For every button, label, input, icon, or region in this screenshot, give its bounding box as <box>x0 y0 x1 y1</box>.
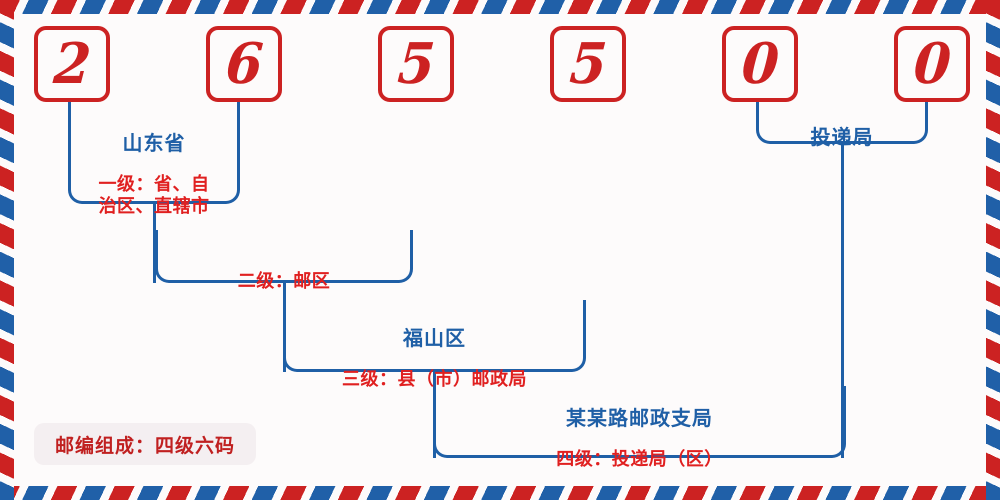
label-level-1-name: 山东省 <box>68 132 240 156</box>
label-level-1-desc: 一级：省、自 治区、直辖市 <box>68 174 240 216</box>
postcode-composition-text: 邮编组成：四级六码 <box>55 431 235 458</box>
label-level-3-name: 福山区 <box>283 327 586 351</box>
digit-value-4: 5 <box>568 36 609 92</box>
label-delivery-office: 投递局 <box>756 107 928 168</box>
label-delivery-office-name: 投递局 <box>756 126 928 150</box>
airmail-border-bottom <box>0 486 1000 500</box>
postcode-composition-chip: 邮编组成：四级六码 <box>34 423 256 465</box>
digit-value-6: 0 <box>912 36 953 92</box>
label-level-2-desc: 二级：邮区 <box>155 271 413 292</box>
label-level-4-name: 某某路邮政支局 <box>433 407 846 431</box>
digit-value-1: 2 <box>52 36 93 92</box>
airmail-border-right <box>986 0 1000 500</box>
digit-card-4[interactable]: 5 <box>550 26 626 102</box>
digit-value-5: 0 <box>740 36 781 92</box>
label-level-2: 二级：邮区 <box>155 252 413 311</box>
label-level-4-desc: 四级：投递局（区） <box>433 449 846 470</box>
digit-card-3[interactable]: 5 <box>378 26 454 102</box>
airmail-border-top <box>0 0 1000 14</box>
digit-card-2[interactable]: 6 <box>206 26 282 102</box>
digit-card-6[interactable]: 0 <box>894 26 970 102</box>
airmail-border-left <box>0 0 14 500</box>
label-level-4: 某某路邮政支局 四级：投递局（区） <box>433 388 846 489</box>
digit-card-1[interactable]: 2 <box>34 26 110 102</box>
digit-card-5[interactable]: 0 <box>722 26 798 102</box>
postcode-diagram: 2 6 5 5 0 0 山东省 一级：省、自 治区、直辖市 二级：邮区 福山区 … <box>0 0 1000 500</box>
digit-value-3: 5 <box>396 36 437 92</box>
label-level-1: 山东省 一级：省、自 治区、直辖市 <box>68 113 240 236</box>
digit-value-2: 6 <box>224 36 265 92</box>
